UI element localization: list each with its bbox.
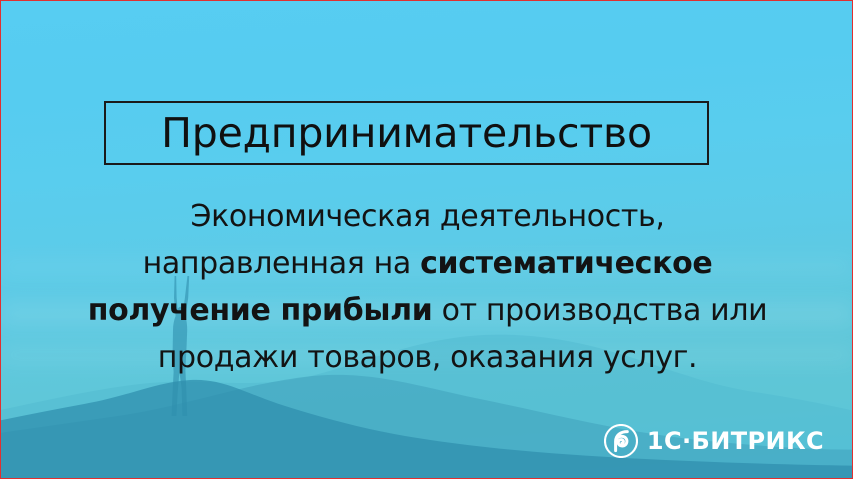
body-line-2: направленная на систематическое <box>47 240 808 287</box>
body-line-4: продажи товаров, оказания услуг. <box>47 334 808 381</box>
body-text-run: от производства или <box>432 293 767 328</box>
title-box: Предпринимательство <box>104 101 709 165</box>
body-text-run: Экономическая деятельность, <box>190 199 664 234</box>
body-line-1: Экономическая деятельность, <box>47 193 808 240</box>
bitrix-logo: 1C·БИТРИКС <box>604 424 824 458</box>
bitrix-spiral-icon <box>604 424 638 458</box>
body-text-emphasis: систематическое <box>420 246 712 281</box>
bitrix-logo-text: 1C·БИТРИКС <box>647 429 824 453</box>
body-text: Экономическая деятельность, направленная… <box>47 193 808 381</box>
body-text-run: продажи товаров, оказания услуг. <box>158 340 697 375</box>
page-title: Предпринимательство <box>161 113 652 154</box>
body-text-run: направленная на <box>143 246 420 281</box>
body-text-emphasis: получение прибыли <box>88 293 433 328</box>
body-line-3: получение прибыли от производства или <box>47 287 808 334</box>
slide: Предпринимательство Экономическая деятел… <box>0 0 853 479</box>
